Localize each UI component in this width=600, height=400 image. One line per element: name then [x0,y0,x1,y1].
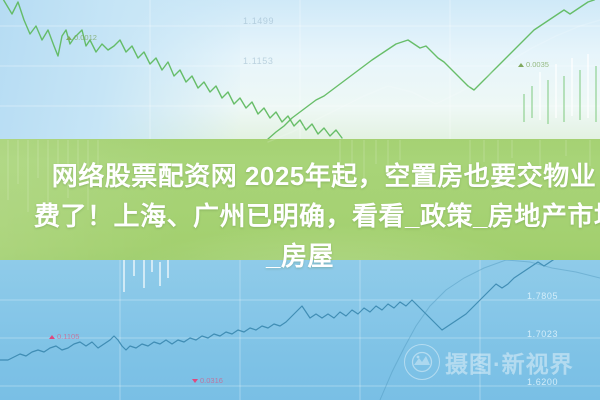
headline-line-3: _房屋 [0,236,600,276]
banner-image: 1.1499 1.1153 1.7805 1.7023 1.6200 0.001… [0,0,600,400]
watermark: 摄图·新视界 [404,344,574,380]
headline-line-1: 网络股票配资网 2025年起，空置房也要交物业 [24,156,600,196]
camera-shutter-icon [404,344,440,380]
headline-line-2: 费了！上海、广州已明确，看看_政策_房地产市场_房屋 [34,196,600,236]
watermark-text: 摄图·新视界 [445,345,574,379]
headline-overlay: 网络股票配资网 2025年起，空置房也要交物业 费了！上海、广州已明确，看看_政… [0,156,600,276]
